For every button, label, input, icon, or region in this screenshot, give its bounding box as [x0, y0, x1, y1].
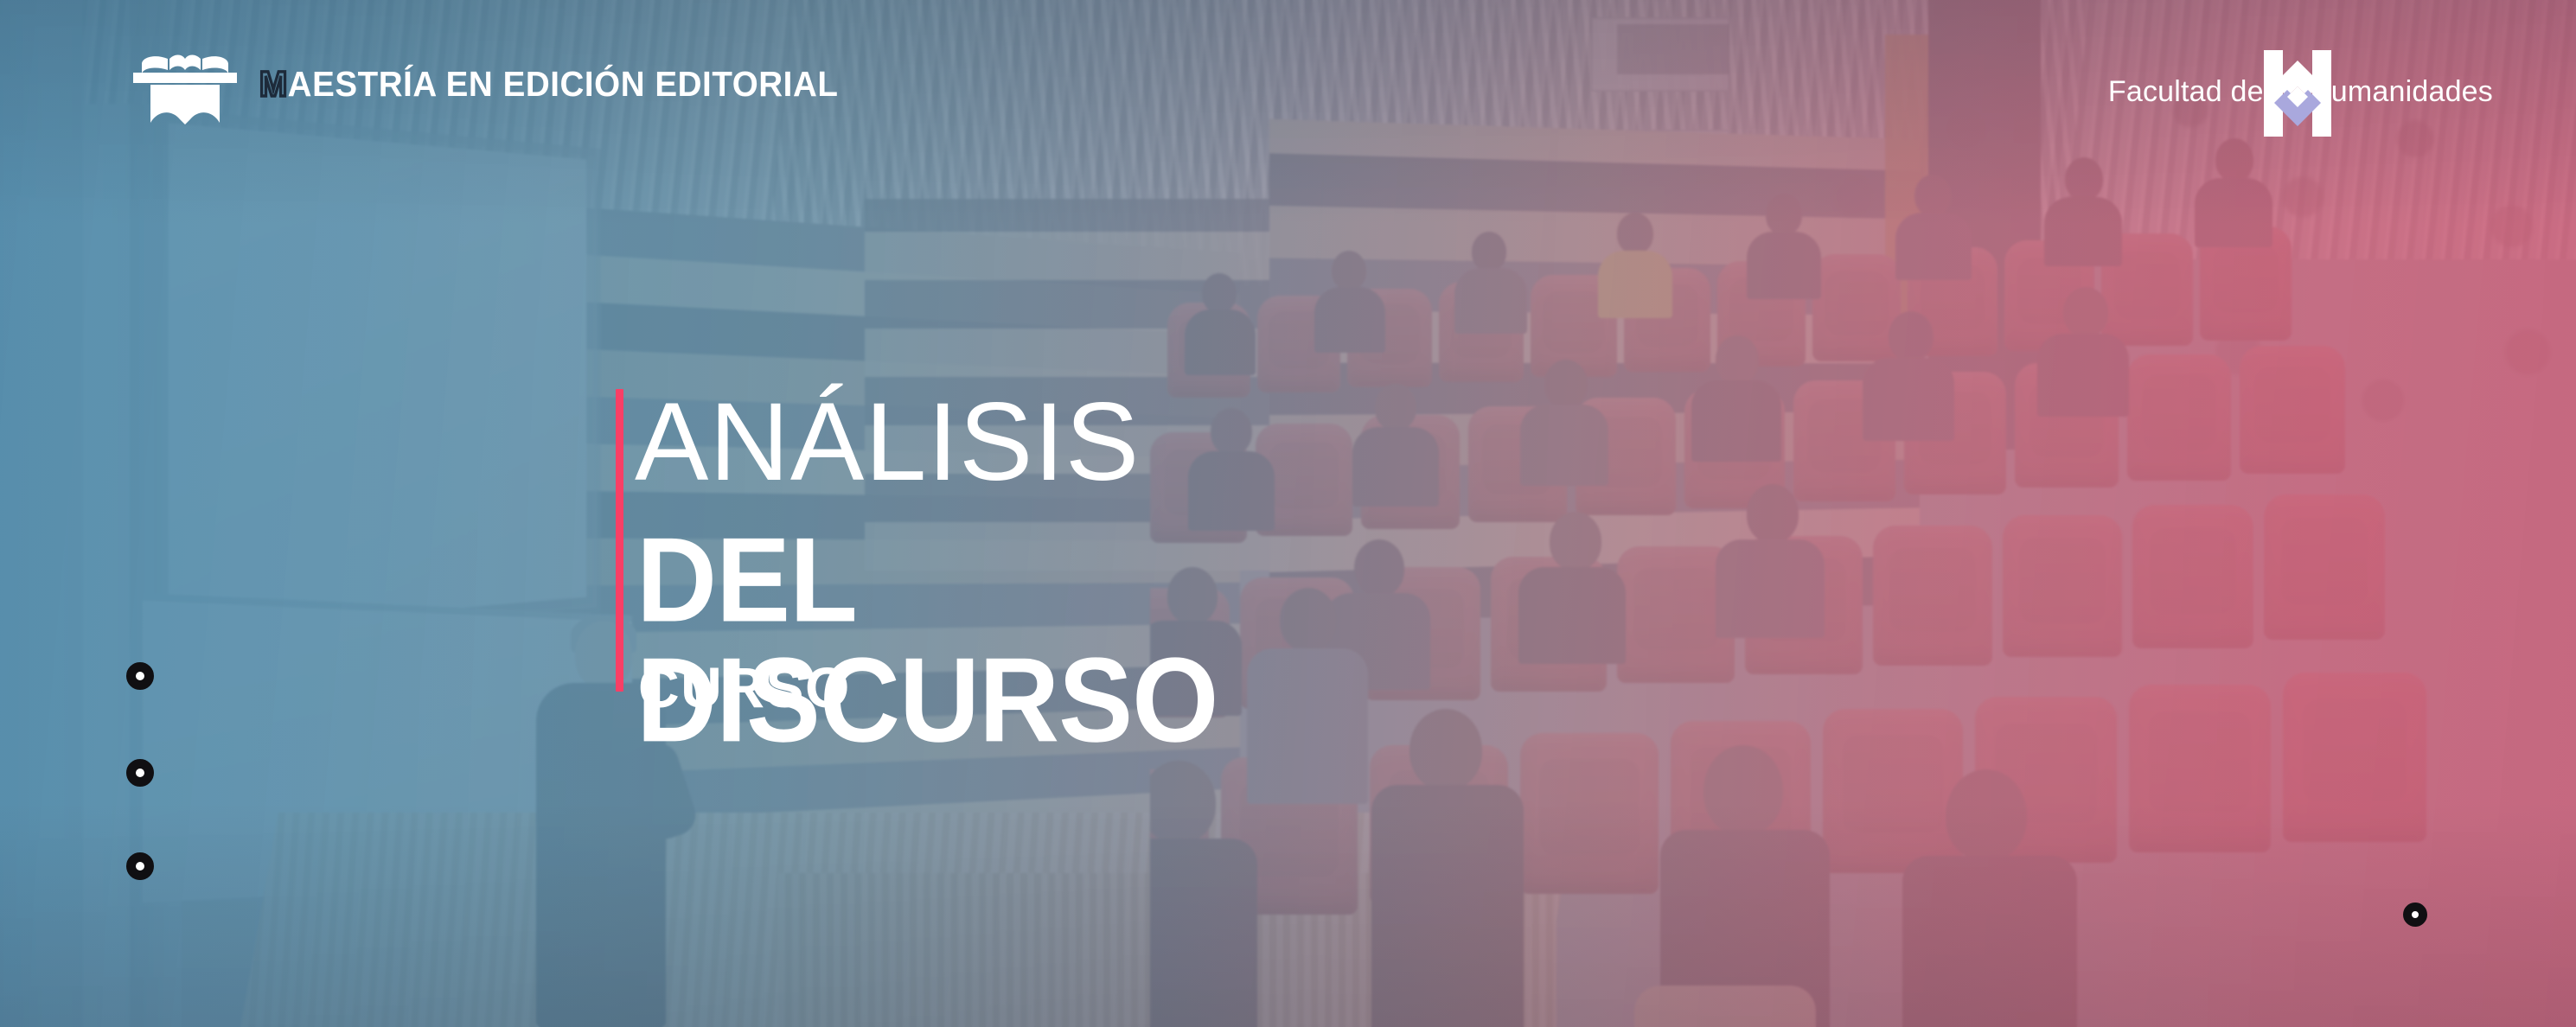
decorative-dot	[2403, 903, 2427, 927]
title-line-1: ANÁLISIS	[635, 387, 1140, 498]
title-line-2: DEL DISCURSO	[636, 520, 1218, 761]
faculty-prefix: Facultad de	[2108, 75, 2264, 109]
course-promo-banner: MAESTRÍA EN EDICIÓN EDITORIAL Facultad d…	[0, 0, 2576, 1027]
decorative-dot	[126, 662, 154, 690]
brand-name-rest: AESTRÍA EN EDICIÓN EDITORIAL	[288, 64, 839, 104]
open-book-icon	[130, 41, 240, 126]
banner-content: MAESTRÍA EN EDICIÓN EDITORIAL Facultad d…	[0, 0, 2576, 1027]
faculty-lockup: Facultad de umanidades	[2108, 45, 2493, 138]
brand-name: MAESTRÍA EN EDICIÓN EDITORIAL	[259, 64, 838, 105]
accent-rule	[616, 389, 623, 692]
brand-lockup: MAESTRÍA EN EDICIÓN EDITORIAL	[130, 41, 875, 126]
decorative-dot	[126, 852, 154, 880]
faculty-suffix: umanidades	[2331, 75, 2493, 109]
decorative-dot	[126, 759, 154, 787]
brand-initial: M	[259, 64, 288, 104]
title-kicker: CURSO	[638, 659, 851, 716]
h-monogram-icon	[2260, 47, 2335, 140]
